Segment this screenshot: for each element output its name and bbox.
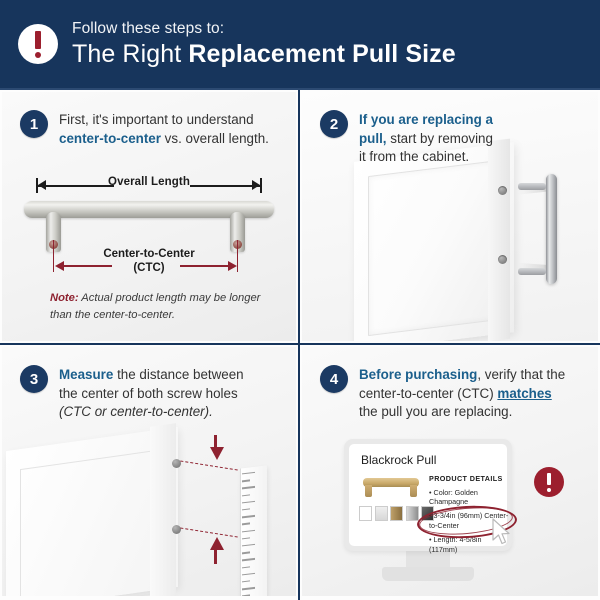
ruler-tick [242, 537, 250, 539]
ruler-tick [242, 486, 255, 489]
ruler-tick [242, 595, 250, 596]
ruler-tick [242, 566, 250, 568]
ctc-line-left [62, 265, 112, 267]
measure-door-edge [150, 423, 176, 596]
overall-arrow-left [38, 180, 46, 190]
steps-grid: 1 First, it's important to understand ce… [0, 90, 600, 600]
note-label: Note: [50, 292, 79, 304]
panel-step-3: 3 Measure the distance between the cente… [2, 347, 296, 596]
ruler-tick [242, 523, 250, 525]
product-thumbnail[interactable] [359, 506, 372, 521]
step-3-badge: 3 [20, 365, 48, 393]
product-image [361, 474, 421, 498]
cabinet-screw-hole-top [498, 186, 507, 195]
infographic-page: Follow these steps to: The Right Replace… [0, 0, 600, 600]
measure-arrow-stem-bottom [214, 550, 217, 564]
header-kicker: Follow these steps to: [72, 20, 456, 37]
product-thumbnail[interactable] [406, 506, 419, 521]
center-to-center-label: Center-to-Center [2, 248, 296, 260]
exclamation-bar [35, 31, 41, 49]
step-3-text: Measure the distance between the center … [59, 365, 244, 422]
step-1-line1: First, it's important to understand [59, 112, 254, 127]
panel-step-2: 2 If you are replacing a pull, start by … [302, 92, 598, 341]
step-4-matches-link[interactable]: matches [497, 386, 551, 401]
exclamation-dot [35, 52, 41, 58]
ruler-tick [242, 472, 255, 475]
step-1-text: First, it's important to understand cent… [59, 110, 269, 148]
cabinet-door-inset [368, 160, 498, 336]
title-bold: Replacement Pull Size [188, 40, 455, 68]
ctc-guide-right [237, 240, 238, 272]
step-4-text: Before purchasing, verify that the cente… [359, 365, 565, 422]
measure-door-inset [20, 449, 162, 596]
monitor-bezel: Blackrock Pull [344, 439, 512, 551]
page-title: The Right Replacement Pull Size [72, 40, 456, 68]
ruler-tick [242, 587, 255, 590]
warning-bar [547, 473, 551, 485]
grid-horizontal-divider [0, 343, 600, 345]
header-text-block: Follow these steps to: The Right Replace… [72, 20, 456, 68]
title-light: The Right [72, 40, 188, 68]
step-3-line3: (CTC or center-to-center). [59, 404, 213, 419]
step-2-heading: 2 If you are replacing a pull, start by … [320, 110, 586, 167]
ctc-arrow-right [228, 261, 237, 271]
measure-dashed-line-top [180, 460, 237, 470]
step-1-line2-bold: center-to-center [59, 131, 161, 146]
ruler-tick [242, 480, 250, 482]
monitor-screen: Blackrock Pull [349, 444, 507, 546]
step-4-badge: 4 [320, 365, 348, 393]
ruler-tick [242, 494, 250, 496]
measure-dashed-line-bottom [180, 527, 237, 537]
step-4-heading: 4 Before purchasing, verify that the cen… [320, 365, 586, 422]
product-thumbnail[interactable] [375, 506, 388, 521]
measure-arrow-down-icon [210, 447, 224, 460]
step-2-line3: it from the cabinet. [359, 149, 469, 164]
monitor-base [382, 567, 474, 581]
cabinet-pull-handle [546, 174, 557, 284]
header-banner: Follow these steps to: The Right Replace… [0, 0, 600, 88]
step-3-line1-bold: Measure [59, 367, 113, 382]
ruler-tick [242, 529, 255, 532]
panel-step-1: 1 First, it's important to understand ce… [2, 92, 296, 341]
note-text: Note: Actual product length may be longe… [50, 290, 265, 325]
product-thumbnail[interactable] [390, 506, 403, 521]
step-1-line2-plain: vs. overall length. [161, 131, 269, 146]
ruler [240, 465, 267, 596]
ruler-tick [242, 544, 255, 547]
ruler-tick [242, 501, 255, 504]
product-handle-leg-right [410, 485, 417, 497]
ctc-arrow-left [55, 261, 64, 271]
step-4-line1-plain: , verify that the [477, 367, 565, 382]
ruler-tick [242, 508, 250, 510]
exclamation-circle-icon [18, 24, 58, 64]
alert-warning-icon [534, 467, 564, 497]
product-detail-color: Color: Golden Champagne [429, 488, 509, 507]
pull-dimension-diagram: Overall Length Center-to-Center (CTC) [2, 176, 296, 296]
step-2-line2-bold: pull, [359, 131, 387, 146]
step-2-line2-plain: start by removing [387, 131, 493, 146]
step-2-badge: 2 [320, 110, 348, 138]
mouse-cursor-icon [491, 518, 513, 546]
ctc-abbreviation-label: (CTC) [2, 262, 296, 274]
ruler-tick [242, 515, 255, 518]
cabinet-door-edge [488, 139, 510, 341]
overall-length-line-left [36, 185, 114, 187]
step-4-line1-bold: Before purchasing [359, 367, 477, 382]
step-4-line3: the pull you are replacing. [359, 404, 512, 419]
step-3-heading: 3 Measure the distance between the cente… [20, 365, 284, 422]
ctc-line-right [180, 265, 230, 267]
step-2-line1-bold: If you are replacing a [359, 112, 493, 127]
measure-arrow-up-icon [210, 537, 224, 550]
cabinet-screw-hole-bottom [498, 255, 507, 264]
step-2-text: If you are replacing a pull, start by re… [359, 110, 493, 167]
note-body: Actual product length may be longer than… [50, 292, 260, 321]
step-4-line2-plain: center-to-center (CTC) [359, 386, 497, 401]
ruler-tick [242, 580, 250, 582]
grid-vertical-divider [298, 90, 300, 600]
product-title: Blackrock Pull [361, 453, 436, 467]
product-handle-leg-left [365, 485, 372, 497]
ruler-tick [242, 558, 255, 561]
overall-tick-right [260, 178, 262, 193]
product-details-heading: PRODUCT DETAILS [429, 474, 509, 483]
step-1-badge: 1 [20, 110, 48, 138]
warning-dot [547, 488, 551, 492]
ruler-tick [242, 552, 250, 554]
ruler-tick [242, 573, 255, 576]
step-3-line2: the center of both screw holes [59, 386, 238, 401]
step-1-heading: 1 First, it's important to understand ce… [20, 110, 284, 148]
step-3-line1-plain: the distance between [113, 367, 243, 382]
overall-arrow-right [252, 180, 260, 190]
panel-step-4: Blackrock Pull [302, 347, 598, 596]
